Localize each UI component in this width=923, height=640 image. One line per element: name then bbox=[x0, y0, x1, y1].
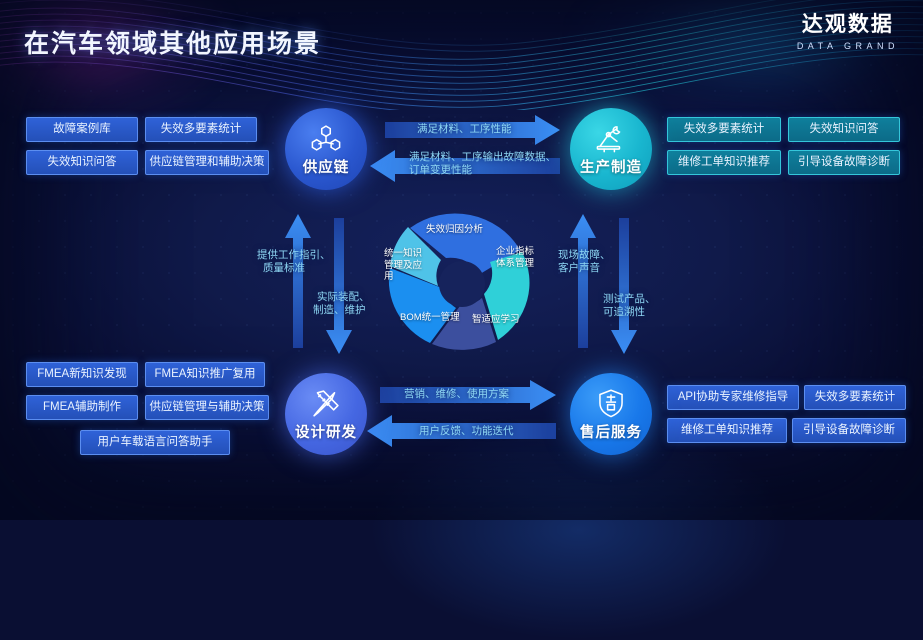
tag-aftersales-1[interactable]: API协助专家维修指导 bbox=[667, 385, 799, 410]
tag-supply-4[interactable]: 供应链管理和辅助决策 bbox=[145, 150, 269, 175]
arrow-label-top-right: 满足材料、工序性能 bbox=[417, 123, 512, 136]
arrow-label-top-left-line2: 订单变更性能 bbox=[409, 164, 472, 177]
shield-sale-icon bbox=[594, 386, 628, 420]
arrow-label-top-left-line1: 满足材料、工序输出故障数据、 bbox=[409, 151, 556, 164]
arrow-label-right-up-line1: 现场故障、 bbox=[558, 249, 611, 262]
tag-manufacture-1[interactable]: 失效多要素统计 bbox=[667, 117, 781, 142]
aperture-label-right: 企业指标体系管理 bbox=[496, 246, 542, 269]
tag-design-1[interactable]: FMEA新知识发现 bbox=[26, 362, 138, 387]
tag-manufacture-2[interactable]: 失效知识问答 bbox=[788, 117, 900, 142]
arrow-label-left-up-line1: 提供工作指引、 bbox=[257, 249, 331, 262]
background-glow-bottom bbox=[369, 420, 789, 640]
tag-design-3[interactable]: FMEA辅助制作 bbox=[26, 395, 138, 420]
arrow-label-right-down-line2: 可追溯性 bbox=[603, 306, 645, 319]
brand-logo: 达观数据 DATA GRAND bbox=[797, 14, 899, 51]
arrow-label-right-down-line1: 测试产品、 bbox=[603, 293, 656, 306]
tag-design-2[interactable]: FMEA知识推广复用 bbox=[145, 362, 265, 387]
arrow-label-left-up-line2: 质量标准 bbox=[263, 262, 305, 275]
node-label-supply-chain: 供应链 bbox=[303, 156, 350, 177]
tag-aftersales-4[interactable]: 引导设备故障诊断 bbox=[792, 418, 906, 443]
network-nodes-icon bbox=[309, 121, 343, 155]
tag-supply-2[interactable]: 失效多要素统计 bbox=[145, 117, 257, 142]
arrow-label-left-down-line1: 实际装配、 bbox=[317, 291, 370, 304]
tag-supply-3[interactable]: 失效知识问答 bbox=[26, 150, 138, 175]
page-title: 在汽车领域其他应用场景 bbox=[24, 24, 321, 60]
node-label-aftersales: 售后服务 bbox=[580, 421, 642, 442]
aperture-label-bottomright: 智适应学习 bbox=[472, 314, 520, 326]
tag-aftersales-3[interactable]: 维修工单知识推荐 bbox=[667, 418, 787, 443]
brand-logo-en: DATA GRAND bbox=[797, 42, 899, 51]
arrow-label-bottom-right: 营销、维修、使用方案 bbox=[404, 388, 509, 401]
aperture-label-bottomleft: BOM统一管理 bbox=[400, 312, 460, 324]
background-glow-left bbox=[0, 0, 240, 130]
tag-manufacture-3[interactable]: 维修工单知识推荐 bbox=[667, 150, 781, 175]
node-label-manufacture: 生产制造 bbox=[580, 156, 642, 177]
tag-supply-1[interactable]: 故障案例库 bbox=[26, 117, 138, 142]
tag-aftersales-2[interactable]: 失效多要素统计 bbox=[804, 385, 906, 410]
node-manufacture[interactable]: 生产制造 bbox=[570, 108, 652, 190]
tag-design-4[interactable]: 供应链管理与辅助决策 bbox=[145, 395, 269, 420]
robot-arm-icon bbox=[594, 121, 628, 155]
arrow-label-bottom-left: 用户反馈、功能迭代 bbox=[419, 425, 514, 438]
node-design[interactable]: 设计研发 bbox=[285, 373, 367, 455]
node-supply-chain[interactable]: 供应链 bbox=[285, 108, 367, 190]
aperture-label-left: 统一知识管理及应用 bbox=[384, 248, 430, 283]
aperture-diagram: 失效归因分析 企业指标体系管理 智适应学习 BOM统一管理 统一知识管理及应用 bbox=[368, 204, 556, 364]
aperture-label-top: 失效归因分析 bbox=[426, 224, 483, 236]
arrow-label-right-up-line2: 客户声音 bbox=[558, 262, 600, 275]
tag-manufacture-4[interactable]: 引导设备故障诊断 bbox=[788, 150, 900, 175]
node-aftersales[interactable]: 售后服务 bbox=[570, 373, 652, 455]
brand-logo-cn: 达观数据 bbox=[797, 14, 899, 35]
pencil-ruler-icon bbox=[309, 386, 343, 420]
arrow-label-left-down-line2: 制造、维护 bbox=[313, 304, 366, 317]
tag-design-5[interactable]: 用户车载语言问答助手 bbox=[80, 430, 230, 455]
node-label-design: 设计研发 bbox=[295, 421, 357, 442]
